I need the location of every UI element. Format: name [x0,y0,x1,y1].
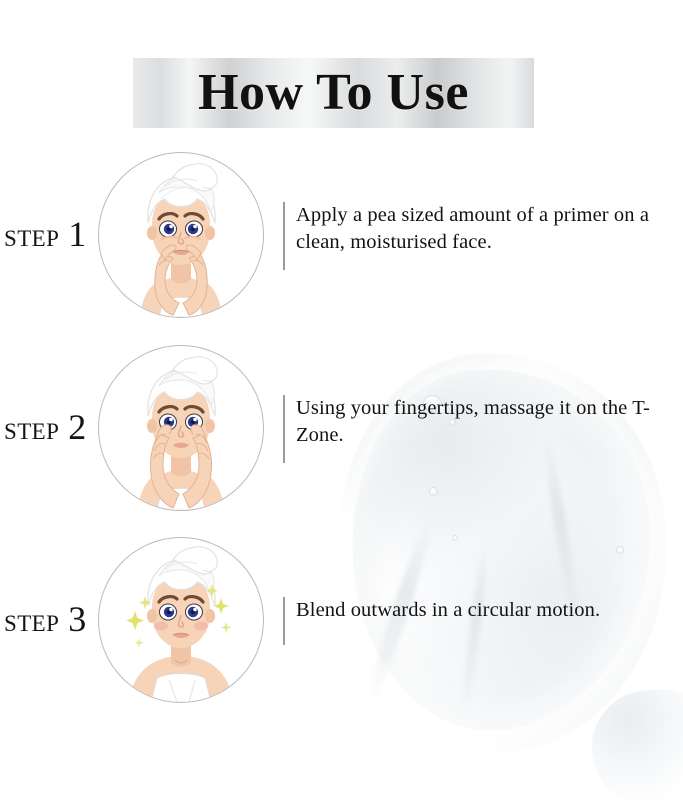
gel-bubble-icon [616,546,624,554]
step-number: 1 [68,216,86,252]
step-divider-3 [283,597,285,645]
step-description-1: Apply a pea sized amount of a primer on … [296,202,676,256]
gel-bubble-icon [452,535,458,541]
woman-massage-icon [99,346,263,510]
woman-glowing-face-icon [99,538,263,702]
step-description-2: Using your fingertips, massage it on the… [296,395,676,449]
step-divider-2 [283,395,285,463]
step-word: STEP [4,611,59,637]
step-illustration-1 [98,152,264,318]
step-label-1: STEP 1 [4,216,86,252]
step-number: 2 [68,409,86,445]
page-title: How To Use [133,58,534,128]
how-to-use-infographic: How To Use STEP 1 [0,0,683,800]
gel-bubble-icon [429,487,438,496]
step-word: STEP [4,226,59,252]
step-word: STEP [4,419,59,445]
gel-streak-icon [459,540,491,720]
step-illustration-2 [98,345,264,511]
step-illustration-3 [98,537,264,703]
step-label-3: STEP 3 [4,601,86,637]
step-divider-1 [283,202,285,270]
step-number: 3 [68,601,86,637]
woman-fingertips-icon [99,153,263,317]
gel-corner-smear [592,690,683,800]
step-description-3: Blend outwards in a circular motion. [296,597,676,624]
step-label-2: STEP 2 [4,409,86,445]
